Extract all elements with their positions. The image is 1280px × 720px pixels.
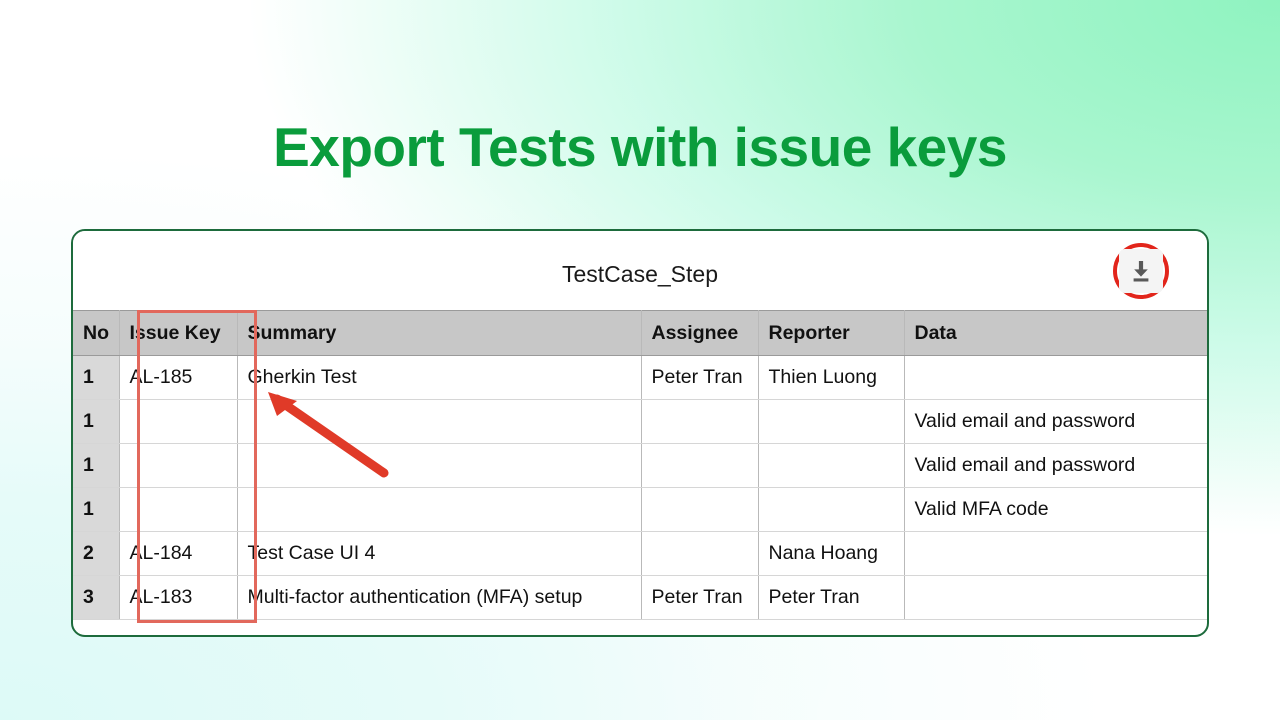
table-row: 1AL-185Gherkin TestPeter TranThien Luong bbox=[73, 356, 1207, 400]
download-icon bbox=[1128, 258, 1154, 284]
cell-assignee[interactable] bbox=[641, 444, 758, 488]
cell-data[interactable] bbox=[904, 576, 1207, 620]
column-header-no[interactable]: No bbox=[73, 311, 119, 356]
cell-summary[interactable]: Multi-factor authentication (MFA) setup bbox=[237, 576, 641, 620]
cell-reporter[interactable] bbox=[758, 400, 904, 444]
cell-summary[interactable] bbox=[237, 488, 641, 532]
cell-issue_key[interactable] bbox=[119, 400, 237, 444]
table-row: 1Valid email and password bbox=[73, 444, 1207, 488]
table-header-row: No Issue Key Summary Assignee Reporter D… bbox=[73, 311, 1207, 356]
cell-reporter[interactable] bbox=[758, 444, 904, 488]
testcase-step-table: No Issue Key Summary Assignee Reporter D… bbox=[73, 310, 1207, 620]
column-header-summary[interactable]: Summary bbox=[237, 311, 641, 356]
table-body: 1AL-185Gherkin TestPeter TranThien Luong… bbox=[73, 356, 1207, 620]
column-header-data[interactable]: Data bbox=[904, 311, 1207, 356]
column-header-reporter[interactable]: Reporter bbox=[758, 311, 904, 356]
cell-issue_key[interactable]: AL-184 bbox=[119, 532, 237, 576]
cell-no[interactable]: 1 bbox=[73, 356, 119, 400]
cell-assignee[interactable] bbox=[641, 400, 758, 444]
cell-issue_key[interactable] bbox=[119, 488, 237, 532]
table-header: No Issue Key Summary Assignee Reporter D… bbox=[73, 311, 1207, 356]
cell-data[interactable]: Valid email and password bbox=[904, 444, 1207, 488]
sheet-title: TestCase_Step bbox=[73, 261, 1207, 288]
column-header-issue-key[interactable]: Issue Key bbox=[119, 311, 237, 356]
cell-summary[interactable]: Gherkin Test bbox=[237, 356, 641, 400]
cell-no[interactable]: 3 bbox=[73, 576, 119, 620]
card-header: TestCase_Step bbox=[73, 231, 1207, 310]
cell-summary[interactable] bbox=[237, 444, 641, 488]
cell-reporter[interactable] bbox=[758, 488, 904, 532]
download-button-highlight-group bbox=[1113, 243, 1169, 299]
download-button[interactable] bbox=[1119, 249, 1163, 293]
table-row: 1Valid email and password bbox=[73, 400, 1207, 444]
cell-reporter[interactable]: Nana Hoang bbox=[758, 532, 904, 576]
cell-assignee[interactable] bbox=[641, 488, 758, 532]
spreadsheet-card: TestCase_Step bbox=[71, 229, 1209, 637]
cell-reporter[interactable]: Thien Luong bbox=[758, 356, 904, 400]
table-row: 2AL-184Test Case UI 4Nana Hoang bbox=[73, 532, 1207, 576]
cell-data[interactable]: Valid email and password bbox=[904, 400, 1207, 444]
cell-no[interactable]: 1 bbox=[73, 400, 119, 444]
cell-data[interactable] bbox=[904, 532, 1207, 576]
table-row: 1Valid MFA code bbox=[73, 488, 1207, 532]
column-header-assignee[interactable]: Assignee bbox=[641, 311, 758, 356]
cell-reporter[interactable]: Peter Tran bbox=[758, 576, 904, 620]
cell-issue_key[interactable]: AL-185 bbox=[119, 356, 237, 400]
cell-assignee[interactable]: Peter Tran bbox=[641, 576, 758, 620]
cell-summary[interactable] bbox=[237, 400, 641, 444]
cell-assignee[interactable]: Peter Tran bbox=[641, 356, 758, 400]
cell-issue_key[interactable] bbox=[119, 444, 237, 488]
table-row: 3AL-183Multi-factor authentication (MFA)… bbox=[73, 576, 1207, 620]
page-title: Export Tests with issue keys bbox=[0, 112, 1280, 182]
cell-data[interactable]: Valid MFA code bbox=[904, 488, 1207, 532]
cell-no[interactable]: 1 bbox=[73, 444, 119, 488]
cell-no[interactable]: 2 bbox=[73, 532, 119, 576]
cell-data[interactable] bbox=[904, 356, 1207, 400]
cell-no[interactable]: 1 bbox=[73, 488, 119, 532]
cell-assignee[interactable] bbox=[641, 532, 758, 576]
cell-summary[interactable]: Test Case UI 4 bbox=[237, 532, 641, 576]
cell-issue_key[interactable]: AL-183 bbox=[119, 576, 237, 620]
